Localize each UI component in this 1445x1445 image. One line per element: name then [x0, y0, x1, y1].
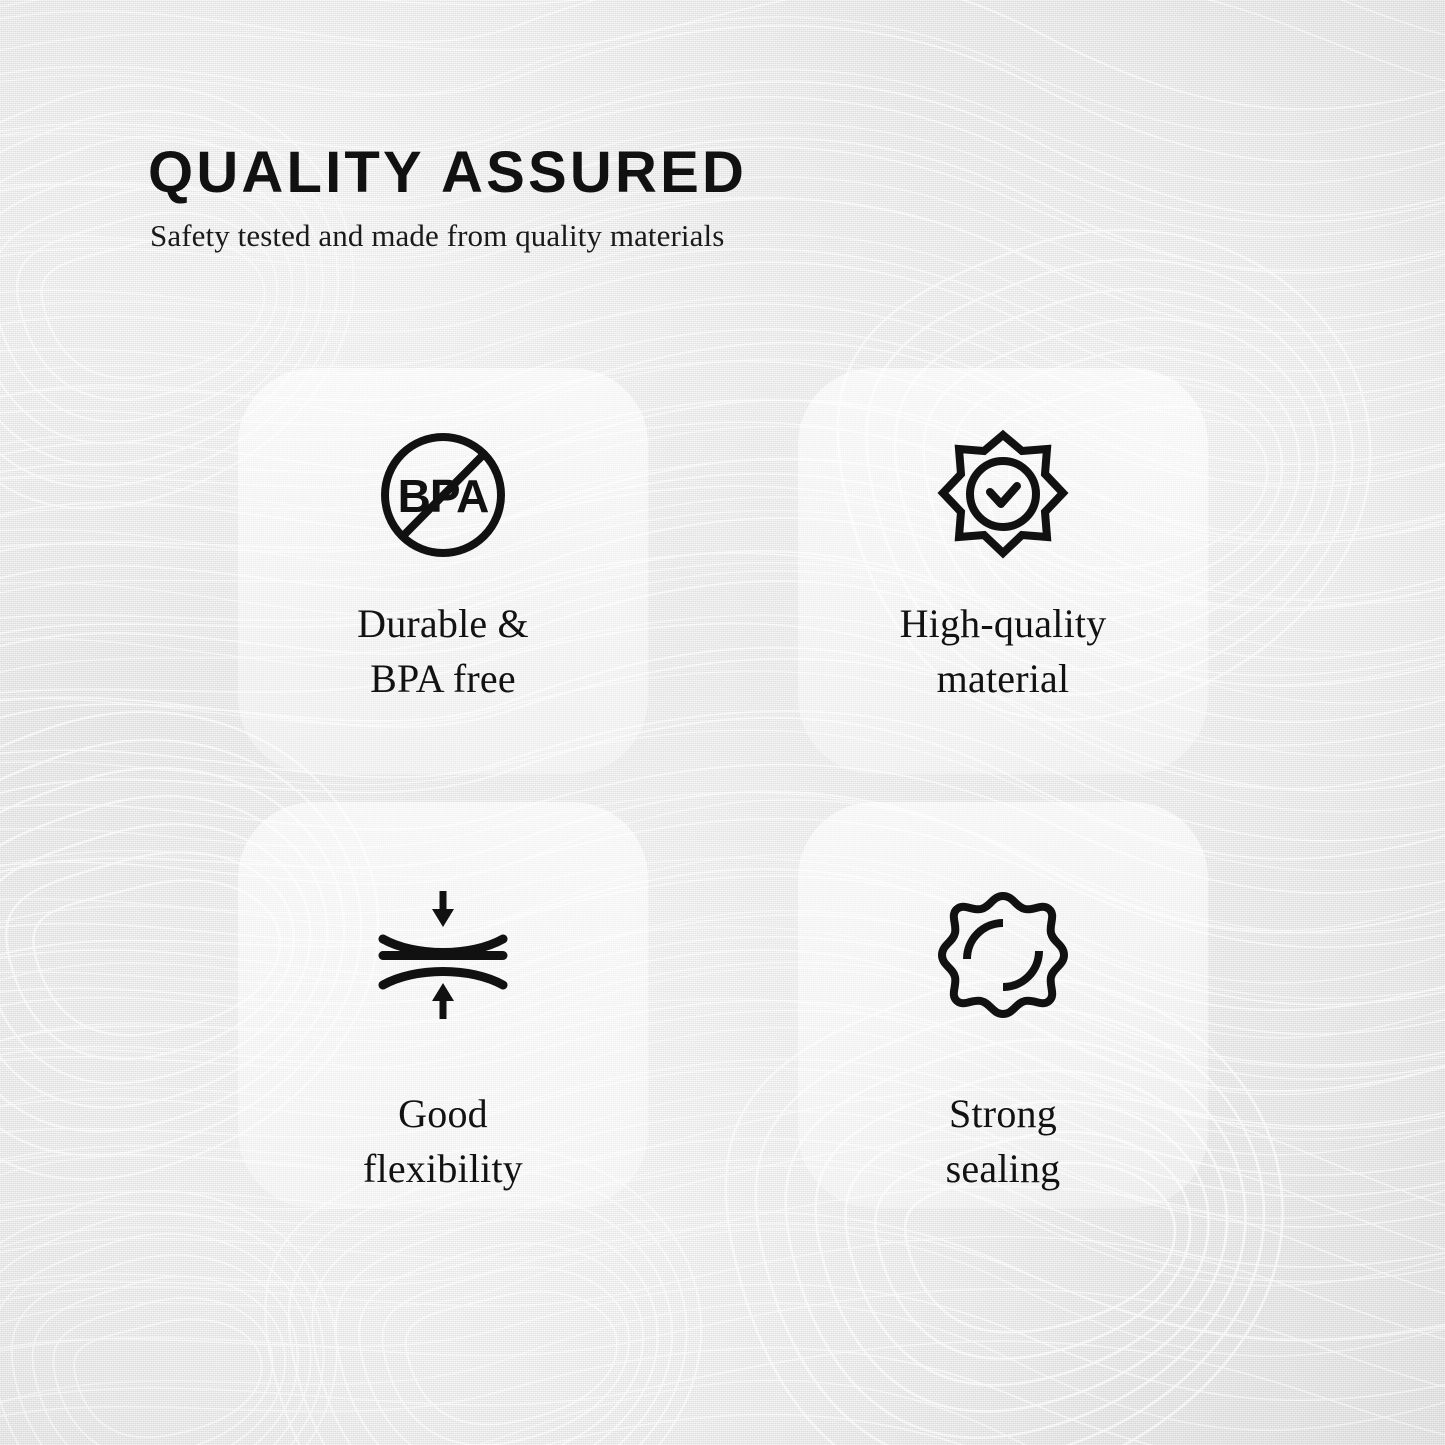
feature-label-line2: sealing	[946, 1141, 1061, 1196]
feature-card-high-quality-material: High-quality material	[798, 368, 1208, 774]
feature-label-good-flexibility: Good flexibility	[363, 1086, 523, 1196]
feature-grid: BPA Durable & BPA free	[238, 368, 1208, 1208]
feature-label-line1: Good	[398, 1091, 488, 1136]
seal-icon	[928, 880, 1078, 1030]
feature-label-line1: Durable &	[357, 601, 529, 646]
header: QUALITY ASSURED Safety tested and made f…	[148, 142, 1148, 255]
quality-badge-check-icon	[928, 420, 1078, 570]
feature-label-high-quality-material: High-quality material	[900, 596, 1107, 706]
feature-card-strong-sealing: Strong sealing	[798, 802, 1208, 1208]
feature-card-bpa-free: BPA Durable & BPA free	[238, 368, 648, 774]
flexibility-compress-icon	[368, 880, 518, 1030]
page-subtitle: Safety tested and made from quality mate…	[150, 217, 1148, 254]
feature-card-good-flexibility: Good flexibility	[238, 802, 648, 1208]
feature-label-line2: BPA free	[357, 651, 529, 706]
quality-assured-infographic: QUALITY ASSURED Safety tested and made f…	[0, 0, 1445, 1445]
feature-label-line2: material	[900, 651, 1107, 706]
feature-label-line1: Strong	[949, 1091, 1057, 1136]
feature-label-bpa-free: Durable & BPA free	[357, 596, 529, 706]
feature-label-strong-sealing: Strong sealing	[946, 1086, 1061, 1196]
page-title: QUALITY ASSURED	[148, 142, 1148, 203]
svg-text:BPA: BPA	[398, 470, 489, 522]
bpa-free-icon: BPA	[368, 420, 518, 570]
feature-label-line2: flexibility	[363, 1141, 523, 1196]
feature-label-line1: High-quality	[900, 601, 1107, 646]
